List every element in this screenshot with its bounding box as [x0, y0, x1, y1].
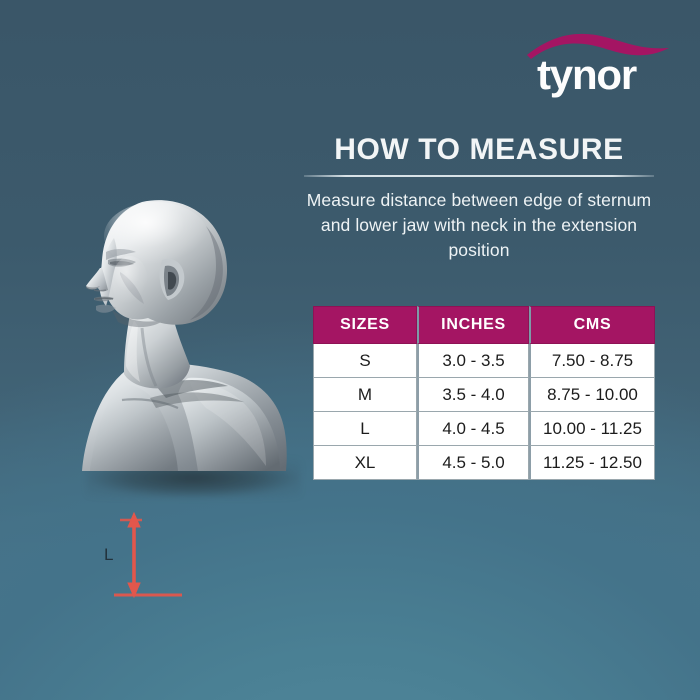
measurement-guide-page: tynor HOW TO MEASURE Measure distance be… [0, 0, 700, 700]
cell-size: S [313, 344, 417, 378]
cell-inches: 3.5 - 4.0 [417, 378, 529, 412]
page-subtitle: Measure distance between edge of sternum… [290, 188, 668, 263]
brand-wordmark: tynor [537, 54, 636, 96]
cell-cms: 11.25 - 12.50 [529, 446, 655, 480]
header-block: HOW TO MEASURE Measure distance between … [290, 133, 668, 263]
measure-label-l: L [104, 545, 113, 564]
title-divider [304, 175, 654, 177]
column-header-cms: CMS [529, 306, 655, 344]
cell-cms: 8.75 - 10.00 [529, 378, 655, 412]
table-row: XL 4.5 - 5.0 11.25 - 12.50 [313, 446, 655, 480]
size-chart-table: SIZES INCHES CMS S 3.0 - 3.5 7.50 - 8.75… [313, 306, 655, 480]
cell-size: M [313, 378, 417, 412]
mannequin-illustration: L [38, 186, 290, 516]
cell-inches: 3.0 - 3.5 [417, 344, 529, 378]
measurement-indicator: L [90, 512, 190, 608]
cell-inches: 4.0 - 4.5 [417, 412, 529, 446]
table-row: L 4.0 - 4.5 10.00 - 11.25 [313, 412, 655, 446]
column-header-inches: INCHES [417, 306, 529, 344]
table-header-row: SIZES INCHES CMS [313, 306, 655, 344]
column-header-sizes: SIZES [313, 306, 417, 344]
cell-size: L [313, 412, 417, 446]
brand-logo: tynor [515, 28, 675, 100]
table-row: M 3.5 - 4.0 8.75 - 10.00 [313, 378, 655, 412]
cell-inches: 4.5 - 5.0 [417, 446, 529, 480]
cell-size: XL [313, 446, 417, 480]
cell-cms: 10.00 - 11.25 [529, 412, 655, 446]
table-row: S 3.0 - 3.5 7.50 - 8.75 [313, 344, 655, 378]
mannequin-bust-icon [38, 186, 290, 486]
page-title: HOW TO MEASURE [290, 133, 668, 166]
cell-cms: 7.50 - 8.75 [529, 344, 655, 378]
